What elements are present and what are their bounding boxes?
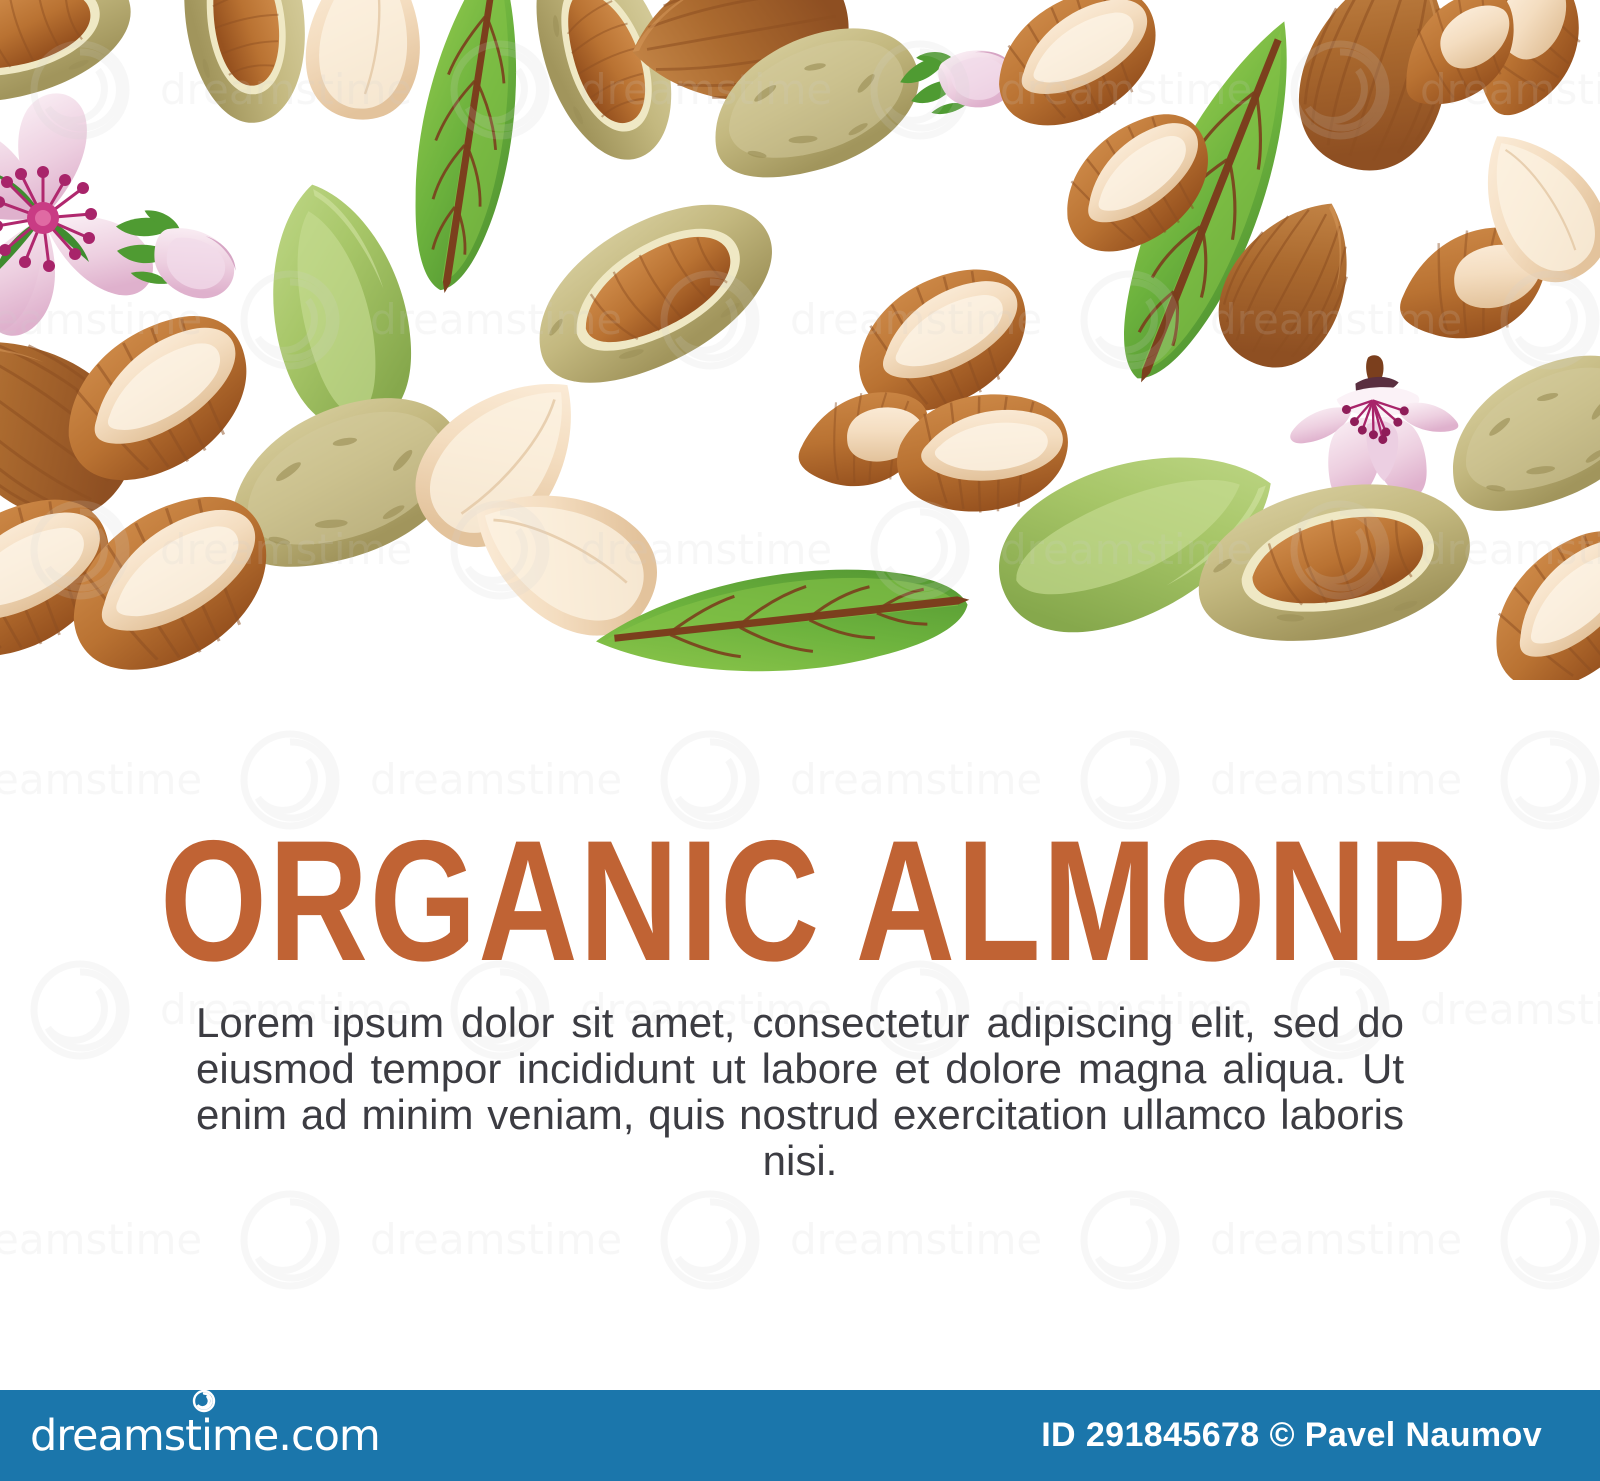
almond-shell-closed	[1425, 332, 1600, 534]
almond-shell-open	[174, 0, 314, 129]
image-credit: ID 291845678 © Pavel Naumov	[1041, 1416, 1542, 1455]
body-paragraph: Lorem ipsum dolor sit amet, consectetur …	[196, 1000, 1404, 1184]
almond-blossom-side	[1285, 350, 1463, 506]
stock-footer-bar: dreamstime.com ID 291845678 © Pavel Naum…	[0, 1390, 1600, 1481]
almond-illustration-band	[0, 0, 1600, 680]
dreamstime-logo-text: dreamstime.com	[30, 1411, 380, 1461]
almond-split	[1464, 513, 1600, 680]
almond-blossom	[0, 93, 153, 335]
page-title: ORGANIC ALMOND	[160, 826, 1440, 976]
dreamstime-logo[interactable]: dreamstime.com	[30, 1411, 380, 1461]
poster-canvas: dreamstime	[0, 0, 1600, 1481]
almond-kernel-cream	[299, 0, 430, 125]
spiral-icon	[192, 1389, 216, 1413]
artwork-group	[0, 0, 1600, 680]
almond-shell-open	[507, 171, 800, 415]
